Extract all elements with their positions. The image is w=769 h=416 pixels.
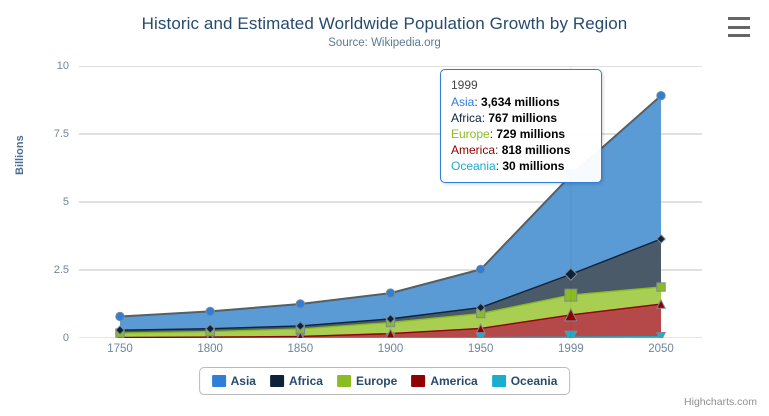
tooltip-series-name: Oceania <box>451 159 496 173</box>
y-axis-tick-label: 10 <box>57 60 69 72</box>
x-axis-tick-label: 2050 <box>648 343 674 355</box>
data-point-asia-2050[interactable] <box>657 91 665 99</box>
legend-item-label: Europe <box>356 374 397 388</box>
legend-item-label: Asia <box>231 374 256 388</box>
x-axis-tick-label: 1800 <box>197 343 223 355</box>
y-axis-tick-label: 7.5 <box>54 128 69 140</box>
tooltip-series-value: 767 millions <box>488 111 557 125</box>
legend-item-label: America <box>430 374 477 388</box>
x-axis-tick-label: 1950 <box>468 343 494 355</box>
tooltip-separator: : <box>474 95 481 109</box>
chart-legend[interactable]: AsiaAfricaEuropeAmericaOceania <box>199 367 571 395</box>
tooltip-header: 1999 <box>451 77 591 93</box>
data-point-asia-1900[interactable] <box>386 289 394 297</box>
legend-item-asia[interactable]: Asia <box>212 374 256 388</box>
credits-link[interactable]: Highcharts.com <box>684 396 757 408</box>
menu-bar-2 <box>728 26 750 29</box>
tooltip-series-value: 729 millions <box>496 127 565 141</box>
tooltip-series-name: Europe <box>451 127 490 141</box>
data-point-asia-1750[interactable] <box>116 312 124 320</box>
x-axis-tick-label: 1900 <box>378 343 404 355</box>
y-axis-tick-label: 2.5 <box>54 264 69 276</box>
x-axis-tick-label: 1750 <box>107 343 133 355</box>
tooltip-row-oceania: Oceania: 30 millions <box>451 158 591 174</box>
legend-item-europe[interactable]: Europe <box>337 374 397 388</box>
legend-swatch-icon <box>212 375 226 387</box>
data-point-europe-2050[interactable] <box>657 283 665 291</box>
x-axis-labels: 1750180018501900195019992050 <box>0 343 769 361</box>
data-point-asia-1850[interactable] <box>296 300 304 308</box>
stacked-area-plot <box>79 66 702 338</box>
legend-swatch-icon <box>492 375 506 387</box>
tooltip-series-value: 30 millions <box>502 159 564 173</box>
tooltip-series-name: America <box>451 143 495 157</box>
x-axis-tick-label: 1999 <box>558 343 584 355</box>
highcharts-container: Historic and Estimated Worldwide Populat… <box>0 0 769 416</box>
menu-bar-3 <box>728 34 750 37</box>
tooltip-row-america: America: 818 millions <box>451 142 591 158</box>
chart-title: Historic and Estimated Worldwide Populat… <box>0 14 769 34</box>
tooltip-series-value: 818 millions <box>502 143 571 157</box>
y-axis-title: Billions <box>14 135 26 175</box>
legend-item-africa[interactable]: Africa <box>270 374 323 388</box>
plot-area[interactable] <box>79 66 702 338</box>
tooltip-row-africa: Africa: 767 millions <box>451 110 591 126</box>
x-axis-tick-label: 1850 <box>288 343 314 355</box>
chart-subtitle: Source: Wikipedia.org <box>0 37 769 49</box>
legend-swatch-icon <box>411 375 425 387</box>
data-point-asia-1800[interactable] <box>206 307 214 315</box>
data-point-asia-1950[interactable] <box>476 265 484 273</box>
legend-item-label: Oceania <box>511 374 558 388</box>
menu-bar-1 <box>728 17 750 20</box>
tooltip-rows: Asia: 3,634 millionsAfrica: 767 millions… <box>451 94 591 174</box>
y-axis-tick-label: 5 <box>63 196 69 208</box>
legend-swatch-icon <box>337 375 351 387</box>
tooltip-row-asia: Asia: 3,634 millions <box>451 94 591 110</box>
tooltip-series-name: Asia <box>451 95 474 109</box>
legend-item-label: Africa <box>289 374 323 388</box>
legend-item-oceania[interactable]: Oceania <box>492 374 558 388</box>
legend-swatch-icon <box>270 375 284 387</box>
tooltip-series-name: Africa <box>451 111 482 125</box>
tooltip-series-value: 3,634 millions <box>481 95 560 109</box>
chart-tooltip: 1999 Asia: 3,634 millionsAfrica: 767 mil… <box>440 69 602 183</box>
menu-icon[interactable] <box>727 17 751 37</box>
tooltip-separator: : <box>495 143 502 157</box>
tooltip-row-europe: Europe: 729 millions <box>451 126 591 142</box>
legend-item-america[interactable]: America <box>411 374 477 388</box>
